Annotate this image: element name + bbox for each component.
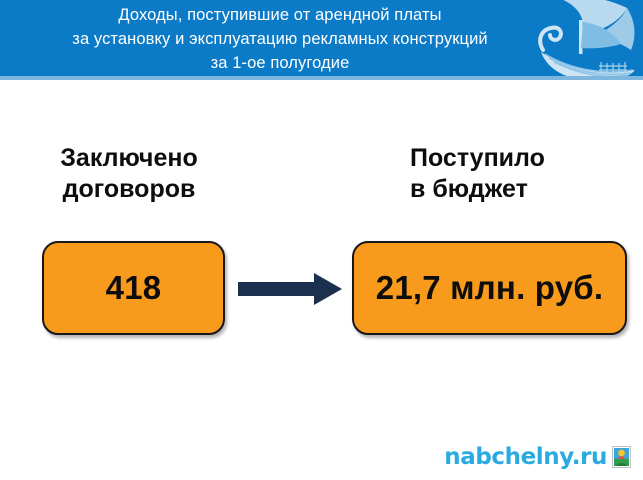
budget-value-box: 21,7 млн. руб. — [352, 241, 627, 335]
city-coat-of-arms-icon — [612, 446, 631, 468]
ship-sail-logo-icon — [523, 0, 641, 76]
right-block-label-line-1: Поступило — [410, 143, 640, 174]
left-block-label-line-2: договоров — [24, 174, 234, 205]
budget-value: 21,7 млн. руб. — [376, 269, 603, 307]
page-title-line-1: Доходы, поступившие от арендной платы — [0, 3, 560, 27]
flow-arrow-icon — [238, 272, 342, 306]
right-block-label: Поступило в бюджет — [410, 143, 640, 205]
contracts-value-box: 418 — [42, 241, 225, 335]
header-bar: Доходы, поступившие от арендной платы за… — [0, 0, 643, 76]
page-title-line-3: за 1-ое полугодие — [0, 51, 560, 75]
page-title-line-2: за установку и эксплуатацию рекламных ко… — [0, 27, 560, 51]
watermark-text: nabchelny.ru — [444, 444, 607, 470]
watermark[interactable]: nabchelny.ru — [444, 444, 631, 470]
left-block-label-line-1: Заключено — [24, 143, 234, 174]
contracts-value: 418 — [106, 269, 162, 307]
left-block-label: Заключено договоров — [24, 143, 234, 205]
page-title: Доходы, поступившие от арендной платы за… — [0, 3, 560, 75]
header-divider — [0, 76, 643, 80]
right-block-label-line-2: в бюджет — [410, 174, 640, 205]
